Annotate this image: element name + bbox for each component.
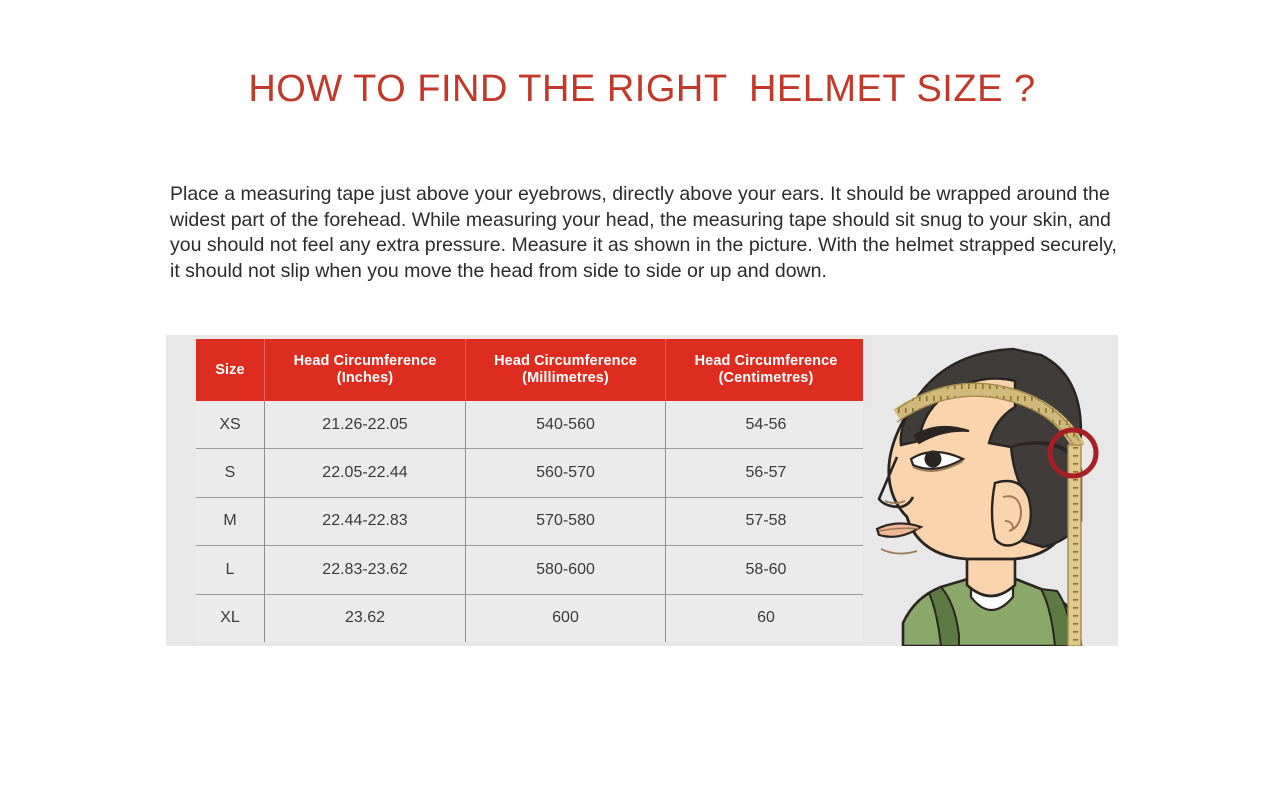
cell-centimetres: 58-60 (666, 546, 867, 594)
cell-size: XS (196, 401, 265, 449)
size-chart-table: Size Head Circumference (Inches) Head Ci… (196, 339, 866, 642)
cell-inches: 23.62 (265, 594, 466, 642)
cell-millimetres: 580-600 (466, 546, 666, 594)
cell-inches: 22.05-22.44 (265, 449, 466, 497)
cell-size: M (196, 497, 265, 545)
cell-millimetres: 600 (466, 594, 666, 642)
cell-centimetres: 57-58 (666, 497, 867, 545)
cell-centimetres: 60 (666, 594, 867, 642)
column-header-inches-label: Head Circumference (294, 353, 437, 369)
head-measurement-illustration (863, 335, 1118, 646)
column-header-size: Size (196, 339, 265, 401)
cell-inches: 22.83-23.62 (265, 546, 466, 594)
table-row: L 22.83-23.62 580-600 58-60 (196, 546, 866, 594)
info-panel: Size Head Circumference (Inches) Head Ci… (166, 335, 1118, 646)
cell-centimetres: 56-57 (666, 449, 867, 497)
column-header-millimetres: Head Circumference (Millimetres) (466, 339, 666, 401)
table-row: XS 21.26-22.05 540-560 54-56 (196, 401, 866, 449)
cell-size: L (196, 546, 265, 594)
column-header-centimetres-label: Head Circumference (695, 353, 838, 369)
cell-centimetres: 54-56 (666, 401, 867, 449)
cell-millimetres: 570-580 (466, 497, 666, 545)
cell-size: XL (196, 594, 265, 642)
column-header-centimetres: Head Circumference (Centimetres) (666, 339, 867, 401)
size-chart-header: Size Head Circumference (Inches) Head Ci… (196, 339, 866, 401)
cell-inches: 21.26-22.05 (265, 401, 466, 449)
page-title: HOW TO FIND THE RIGHT HELMET SIZE ? (0, 68, 1284, 111)
column-header-centimetres-unit: (Centimetres) (666, 370, 866, 387)
column-header-millimetres-label: Head Circumference (494, 353, 637, 369)
intro-paragraph: Place a measuring tape just above your e… (170, 182, 1122, 284)
cell-size: S (196, 449, 265, 497)
ear (992, 481, 1031, 546)
table-row: M 22.44-22.83 570-580 57-58 (196, 497, 866, 545)
table-row: S 22.05-22.44 560-570 56-57 (196, 449, 866, 497)
column-header-millimetres-unit: (Millimetres) (466, 370, 665, 387)
column-header-size-label: Size (215, 362, 244, 378)
cell-millimetres: 560-570 (466, 449, 666, 497)
cell-millimetres: 540-560 (466, 401, 666, 449)
size-chart-body: XS 21.26-22.05 540-560 54-56 S 22.05-22.… (196, 401, 866, 642)
column-header-inches: Head Circumference (Inches) (265, 339, 466, 401)
head-measurement-svg (863, 335, 1118, 646)
cell-inches: 22.44-22.83 (265, 497, 466, 545)
column-header-inches-unit: (Inches) (265, 370, 465, 387)
table-header-row: Size Head Circumference (Inches) Head Ci… (196, 339, 866, 401)
table-row: XL 23.62 600 60 (196, 594, 866, 642)
